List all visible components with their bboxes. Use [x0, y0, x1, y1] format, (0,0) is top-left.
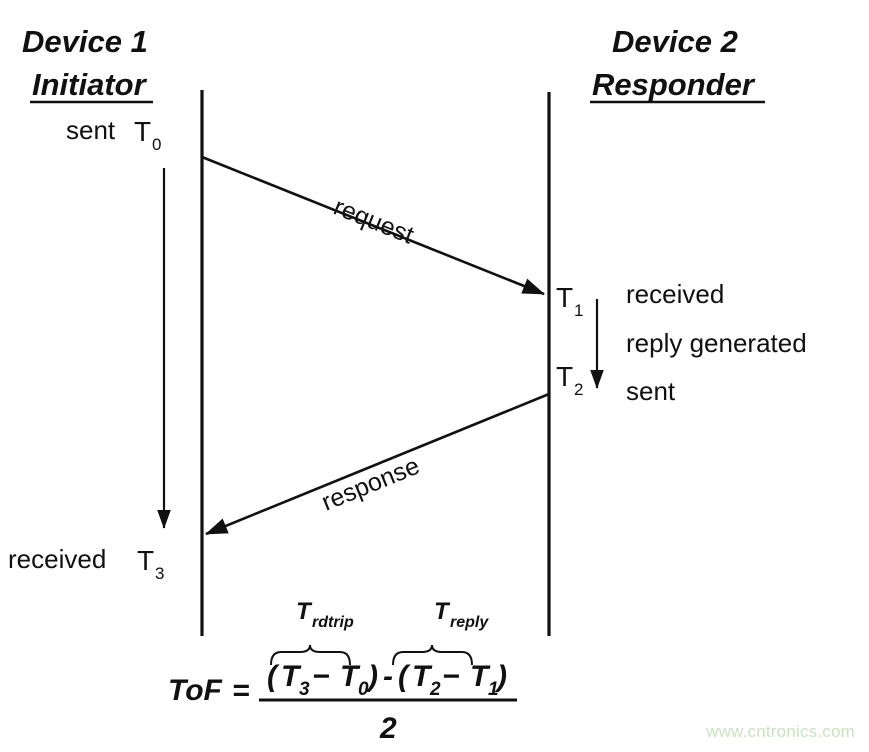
- formula-lhs: ToF: [168, 674, 223, 707]
- device2-t2-time: T: [556, 361, 573, 392]
- device2-t2-subscript: 2: [574, 380, 583, 399]
- formula-denominator: 2: [379, 712, 397, 745]
- diagram-canvas: Device 1 Initiator Device 2 Responder se…: [0, 0, 869, 752]
- device1-role: Initiator: [32, 67, 148, 102]
- request-label: request: [330, 193, 418, 250]
- device1-sent-label: sent: [66, 115, 116, 145]
- formula-open-paren-1: (: [267, 660, 280, 693]
- formula-minus-2: −: [442, 660, 460, 693]
- response-arrow: [206, 394, 549, 534]
- brace-rdtrip-label: T: [296, 598, 313, 625]
- watermark-text: www.cntronics.com: [706, 722, 855, 742]
- device1-received-time: T: [137, 545, 154, 576]
- device2-note-received: received: [626, 279, 724, 309]
- brace-reply-subscript: reply: [450, 614, 489, 631]
- device1-sent-time-subscript: 0: [152, 135, 161, 154]
- device2-note-reply-generated: reply generated: [626, 328, 807, 358]
- device1-received-label: received: [8, 544, 106, 574]
- response-label: response: [318, 452, 424, 517]
- device2-note-sent: sent: [626, 376, 676, 406]
- formula-equals: =: [232, 674, 250, 707]
- device1-sent-time: T: [134, 116, 151, 147]
- formula-term-t2-subscript: 2: [429, 679, 441, 700]
- formula-minus-1: −: [312, 660, 330, 693]
- formula-term-t3-subscript: 3: [299, 679, 310, 700]
- device2-t1-time: T: [556, 282, 573, 313]
- formula-open-paren-2: (: [398, 660, 411, 693]
- device2-role: Responder: [592, 67, 756, 102]
- brace-reply-label: T: [434, 598, 451, 625]
- device2-t1-subscript: 1: [574, 301, 583, 320]
- device2-title: Device 2: [612, 24, 738, 59]
- formula-operator-minus: -: [383, 660, 393, 693]
- brace-rdtrip-subscript: rdtrip: [312, 614, 354, 631]
- device1-received-time-subscript: 3: [155, 564, 164, 583]
- two-way-ranging-diagram: Device 1 Initiator Device 2 Responder se…: [0, 0, 869, 752]
- device1-title: Device 1: [22, 24, 148, 59]
